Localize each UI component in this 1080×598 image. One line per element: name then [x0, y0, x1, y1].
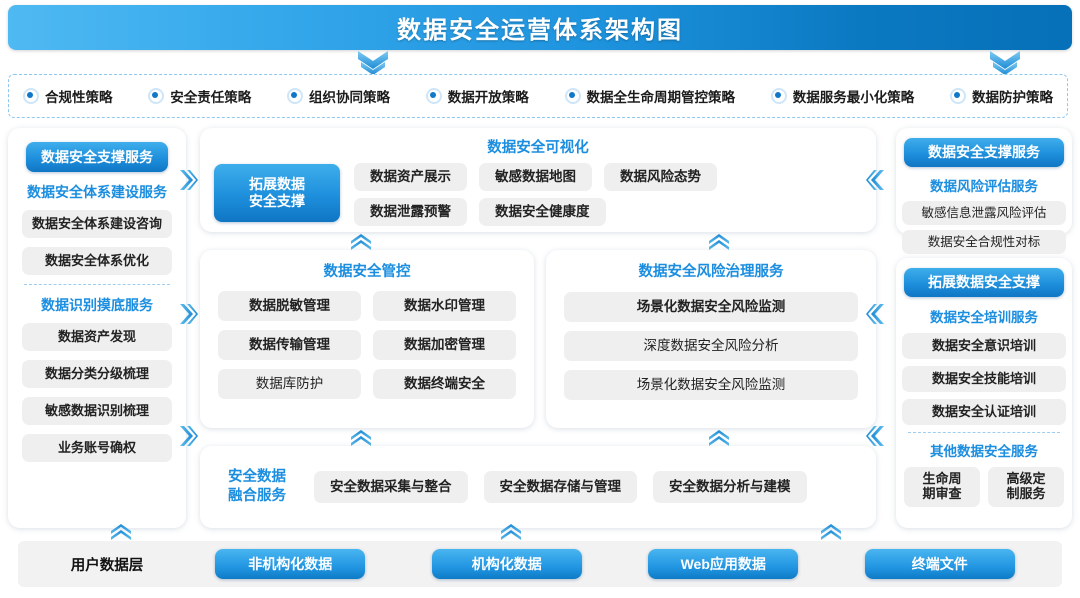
vis-item-2[interactable]: 数据风险态势 — [604, 163, 717, 191]
right-panel2-item-0[interactable]: 数据安全意识培训 — [902, 333, 1066, 359]
chevron-double-up-icon — [350, 430, 372, 446]
control-item-1[interactable]: 数据水印管理 — [373, 291, 516, 321]
left-item-0-1[interactable]: 数据安全体系优化 — [22, 247, 172, 275]
other-item-0-line-1: 生命周 — [922, 472, 961, 487]
vis-item-0[interactable]: 数据资产展示 — [354, 163, 467, 191]
chevron-double-right-icon — [178, 168, 198, 192]
risk-item-1[interactable]: 深度数据安全风险分析 — [564, 331, 858, 361]
strategy-item-1[interactable]: 安全责任策略 — [148, 86, 251, 106]
right-panel1-header-button[interactable]: 数据安全支撑服务 — [904, 138, 1064, 167]
right-panel1-section-title: 数据风险评估服务 — [896, 175, 1072, 195]
chevron-double-up-icon — [500, 524, 522, 540]
other-item-1-line-1: 高级定 — [1006, 472, 1045, 487]
strategy-bar: 合规性策略 安全责任策略 组织协同策略 数据开放策略 数据全生命周期管控策略 数… — [8, 74, 1068, 118]
chevron-double-left-icon — [866, 424, 886, 448]
bullet-icon — [23, 88, 39, 104]
right-panel2-other-item-0[interactable]: 生命周 期审查 — [904, 467, 980, 507]
strategy-label: 合规性策略 — [45, 86, 113, 106]
control-item-3[interactable]: 数据加密管理 — [373, 330, 516, 360]
right-extended-support-panel: 拓展数据安全支撑 数据安全培训服务 数据安全意识培训 数据安全技能培训 数据安全… — [896, 258, 1072, 528]
chevron-double-left-icon — [866, 168, 886, 192]
right-panel2-other-title: 其他数据安全服务 — [896, 440, 1072, 460]
left-section-title-1: 数据识别摸底服务 — [18, 295, 176, 315]
vis-item-1[interactable]: 敏感数据地图 — [479, 163, 592, 191]
strategy-item-2[interactable]: 组织协同策略 — [287, 86, 390, 106]
left-item-1-1[interactable]: 数据分类分级梳理 — [22, 360, 172, 388]
data-security-risk-governance-card: 数据安全风险治理服务 场景化数据安全风险监测 深度数据安全风险分析 场景化数据安… — [546, 250, 876, 428]
bottom-button-1[interactable]: 机构化数据 — [432, 549, 582, 579]
chevron-double-right-icon — [178, 424, 198, 448]
strategy-label: 数据服务最小化策略 — [793, 86, 915, 106]
control-item-2[interactable]: 数据传输管理 — [218, 330, 361, 360]
fusion-item-2[interactable]: 安全数据分析与建模 — [653, 471, 807, 503]
strategy-item-0[interactable]: 合规性策略 — [23, 86, 113, 106]
vis-item-3[interactable]: 数据泄露预警 — [354, 198, 467, 226]
other-item-0-line-2: 期审查 — [922, 487, 961, 502]
right-panel2-header-button[interactable]: 拓展数据安全支撑 — [904, 268, 1064, 297]
left-item-1-2[interactable]: 敏感数据识别梳理 — [22, 397, 172, 425]
left-item-1-0[interactable]: 数据资产发现 — [22, 323, 172, 351]
left-services-panel: 数据安全支撑服务 数据安全体系建设服务 数据安全体系建设咨询 数据安全体系优化 … — [8, 128, 186, 528]
badge-line-2: 安全支撑 — [249, 193, 305, 210]
left-panel-header-button[interactable]: 数据安全支撑服务 — [26, 142, 168, 172]
bottom-button-2[interactable]: Web应用数据 — [648, 549, 798, 579]
right-panel1-item-1[interactable]: 数据安全合规性对标 — [902, 230, 1066, 254]
bullet-icon — [950, 88, 966, 104]
chevron-double-up-icon — [708, 234, 730, 250]
strategy-item-5[interactable]: 数据服务最小化策略 — [771, 86, 915, 106]
control-item-4[interactable]: 数据库防护 — [218, 369, 361, 399]
strategy-label: 数据开放策略 — [448, 86, 529, 106]
fusion-label: 安全数据 融合服务 — [216, 468, 298, 506]
chevron-double-up-icon — [350, 234, 372, 250]
architecture-diagram: 数据安全运营体系架构图 合规性策略 安全责任策略 组织协同策略 — [0, 0, 1080, 598]
chevron-double-up-icon — [110, 524, 132, 540]
divider — [908, 432, 1060, 433]
risk-item-2[interactable]: 场景化数据安全风险监测 — [564, 370, 858, 400]
left-item-0-0[interactable]: 数据安全体系建设咨询 — [22, 210, 172, 238]
badge-line-1: 拓展数据 — [249, 176, 305, 193]
page-title-bar: 数据安全运营体系架构图 — [8, 5, 1072, 50]
bullet-icon — [771, 88, 787, 104]
strategy-label: 组织协同策略 — [309, 86, 390, 106]
strategy-item-3[interactable]: 数据开放策略 — [426, 86, 529, 106]
chevron-double-right-icon — [178, 302, 198, 326]
fusion-item-1[interactable]: 安全数据存储与管理 — [484, 471, 638, 503]
bullet-icon — [287, 88, 303, 104]
fusion-label-line-1: 安全数据 — [216, 468, 298, 487]
chevron-double-left-icon — [866, 302, 886, 326]
control-title: 数据安全管控 — [218, 260, 516, 281]
vis-item-4[interactable]: 数据安全健康度 — [479, 198, 606, 226]
divider — [24, 284, 170, 285]
extend-data-security-support-badge[interactable]: 拓展数据 安全支撑 — [214, 164, 340, 222]
control-item-0[interactable]: 数据脱敏管理 — [218, 291, 361, 321]
data-security-visualization-card: 数据安全可视化 拓展数据 安全支撑 数据资产展示 敏感数据地图 数据风险态势 数… — [200, 128, 876, 232]
right-panel2-item-1[interactable]: 数据安全技能培训 — [902, 366, 1066, 392]
right-panel2-item-2[interactable]: 数据安全认证培训 — [902, 399, 1066, 425]
other-item-1-line-2: 制服务 — [1006, 487, 1045, 502]
data-security-control-card: 数据安全管控 数据脱敏管理 数据水印管理 数据传输管理 数据加密管理 数据库防护… — [200, 250, 534, 428]
strategy-label: 数据全生命周期管控策略 — [587, 86, 736, 106]
visualization-title: 数据安全可视化 — [214, 136, 862, 157]
chevron-double-up-icon — [708, 430, 730, 446]
strategy-label: 数据防护策略 — [972, 86, 1053, 106]
strategy-item-6[interactable]: 数据防护策略 — [950, 86, 1053, 106]
right-panel2-other-item-1[interactable]: 高级定 制服务 — [988, 467, 1064, 507]
left-item-1-3[interactable]: 业务账号确权 — [22, 434, 172, 462]
security-data-fusion-card: 安全数据 融合服务 安全数据采集与整合 安全数据存储与管理 安全数据分析与建模 — [200, 446, 876, 528]
right-panel1-item-0[interactable]: 敏感信息泄露风险评估 — [902, 201, 1066, 225]
bullet-icon — [565, 88, 581, 104]
bullet-icon — [148, 88, 164, 104]
right-panel2-section-title: 数据安全培训服务 — [896, 306, 1072, 326]
strategy-label: 安全责任策略 — [170, 86, 251, 106]
user-data-layer-label: 用户数据层 — [32, 554, 182, 575]
bottom-button-0[interactable]: 非机构化数据 — [215, 549, 365, 579]
control-item-5[interactable]: 数据终端安全 — [373, 369, 516, 399]
chevron-double-down-icon — [356, 50, 390, 76]
fusion-label-line-2: 融合服务 — [216, 487, 298, 506]
risk-title: 数据安全风险治理服务 — [564, 260, 858, 281]
chevron-double-up-icon — [820, 524, 842, 540]
strategy-item-4[interactable]: 数据全生命周期管控策略 — [565, 86, 736, 106]
right-support-services-panel: 数据安全支撑服务 数据风险评估服务 敏感信息泄露风险评估 数据安全合规性对标 — [896, 128, 1072, 234]
chevron-double-down-icon — [988, 50, 1022, 76]
page-title: 数据安全运营体系架构图 — [397, 10, 683, 45]
bullet-icon — [426, 88, 442, 104]
bottom-button-3[interactable]: 终端文件 — [865, 549, 1015, 579]
user-data-layer-bar: 用户数据层 非机构化数据 机构化数据 Web应用数据 终端文件 — [18, 541, 1062, 587]
left-section-title-0: 数据安全体系建设服务 — [18, 182, 176, 202]
fusion-item-0[interactable]: 安全数据采集与整合 — [314, 471, 468, 503]
risk-item-0[interactable]: 场景化数据安全风险监测 — [564, 292, 858, 322]
